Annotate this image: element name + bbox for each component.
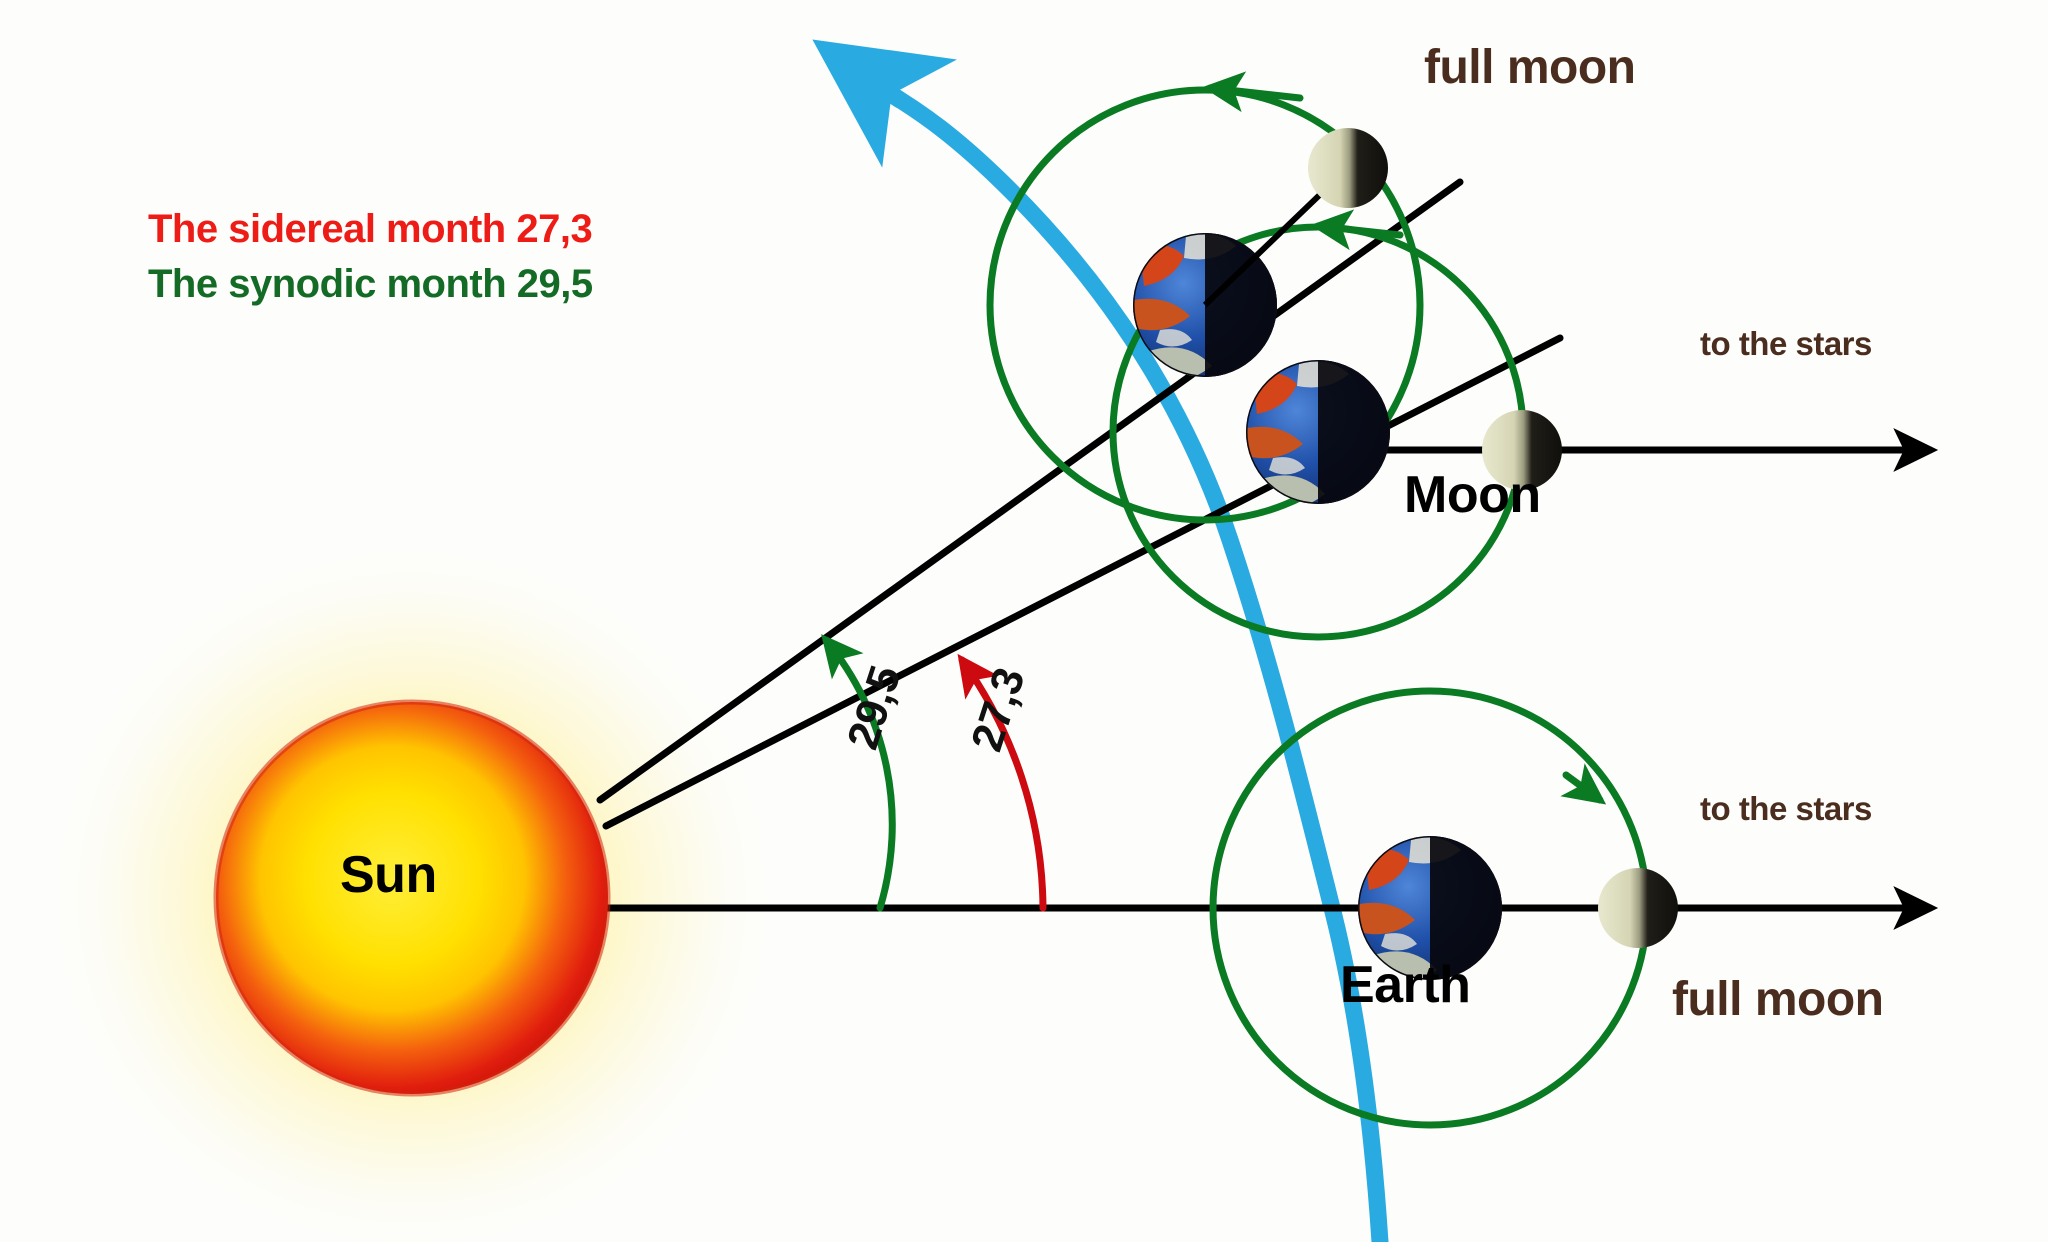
moon-body-lower-full bbox=[1598, 868, 1678, 948]
label-to-the-stars-top: to the stars bbox=[1700, 325, 1872, 363]
label-sun: Sun bbox=[340, 845, 437, 905]
label-full-moon-top: full moon bbox=[1424, 40, 1635, 95]
label-moon: Moon bbox=[1404, 465, 1541, 525]
sight-line-sun-to-middle-earth bbox=[606, 338, 1560, 826]
astronomy-diagram bbox=[0, 0, 2048, 1242]
moon-body-upper-full bbox=[1205, 128, 1388, 305]
label-earth: Earth bbox=[1340, 955, 1470, 1015]
legend-sidereal-month: The sidereal month 27,3 bbox=[148, 207, 592, 252]
label-full-moon-bottom: full moon bbox=[1672, 972, 1883, 1027]
diagram-canvas: The sidereal month 27,3 The synodic mont… bbox=[0, 0, 2048, 1242]
label-to-the-stars-bottom: to the stars bbox=[1700, 790, 1872, 828]
earth-orbital-path-arrow-shaft bbox=[845, 62, 900, 100]
earth-orbital-path-curve bbox=[875, 85, 1380, 1242]
legend-synodic-month: The synodic month 29,5 bbox=[148, 262, 593, 307]
